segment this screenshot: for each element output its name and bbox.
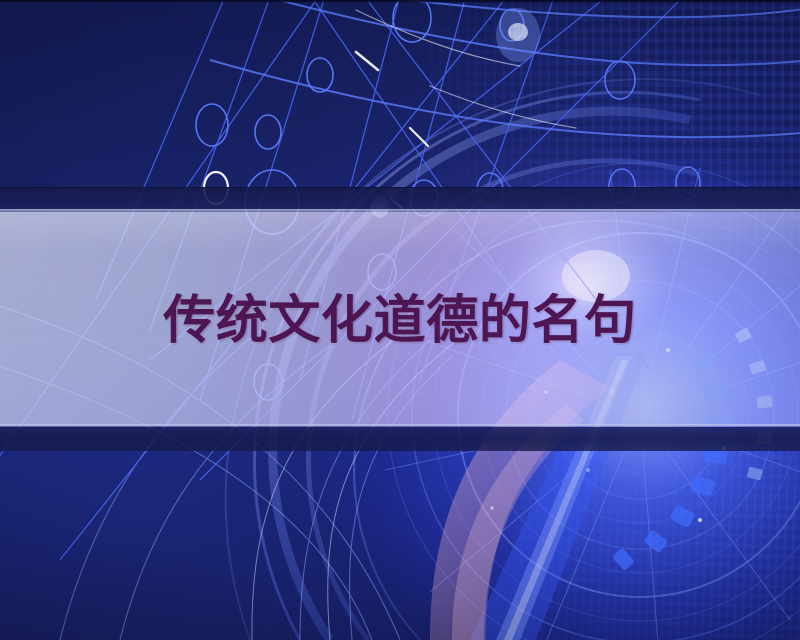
page-title: 传统文化道德的名句 <box>163 295 637 347</box>
banner-canvas: 传统文化道德的名句 <box>0 0 800 640</box>
title-container: 传统文化道德的名句 <box>0 212 800 426</box>
